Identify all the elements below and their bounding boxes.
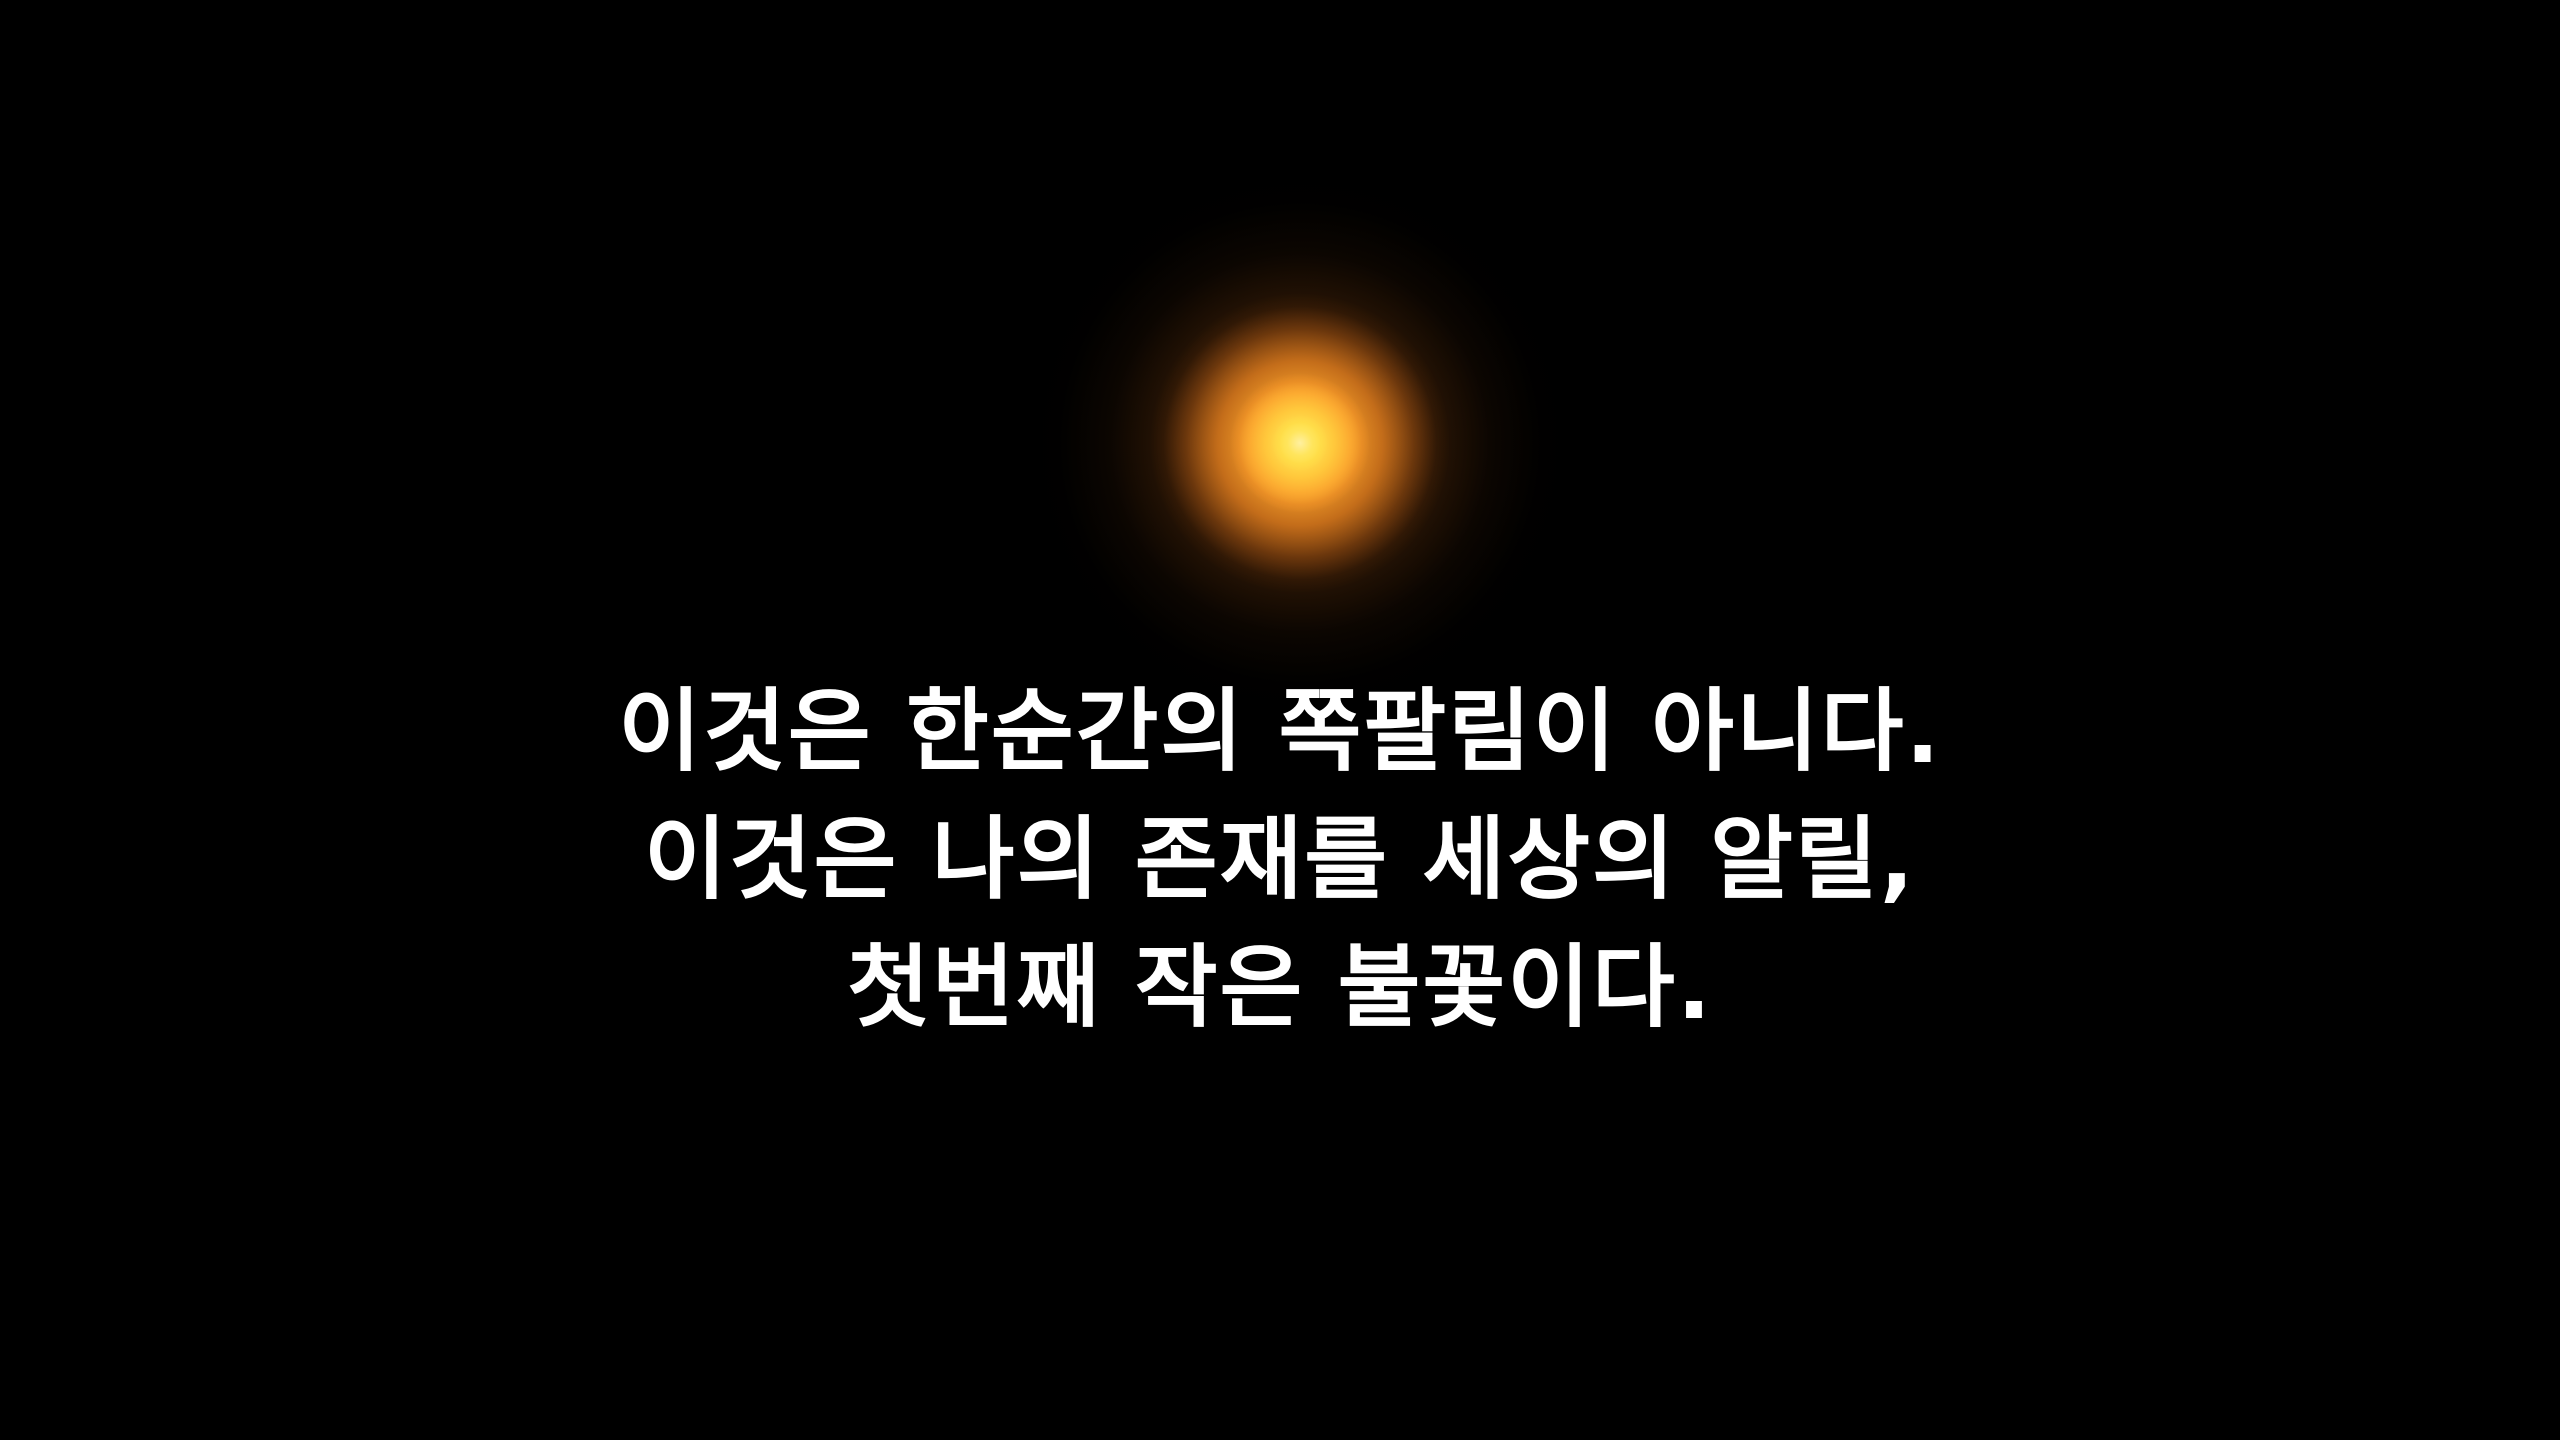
ember-spark-icon (1272, 415, 1328, 471)
scene-root: 이것은 한순간의 쪽팔림이 아니다. 이것은 나의 존재를 세상의 알릴, 첫번… (0, 0, 2560, 1440)
quote-line-2: 이것은 나의 존재를 세상의 알릴, (0, 796, 2560, 924)
ember-halo-icon (1020, 163, 1580, 723)
quote-line-3: 첫번째 작은 불꽃이다. (0, 924, 2560, 1052)
ember-mid-glow-icon (1150, 293, 1450, 593)
quote-line-1: 이것은 한순간의 쪽팔림이 아니다. (0, 668, 2560, 796)
ember-core-icon (1230, 373, 1370, 513)
quote-text-block: 이것은 한순간의 쪽팔림이 아니다. 이것은 나의 존재를 세상의 알릴, 첫번… (0, 668, 2560, 1052)
